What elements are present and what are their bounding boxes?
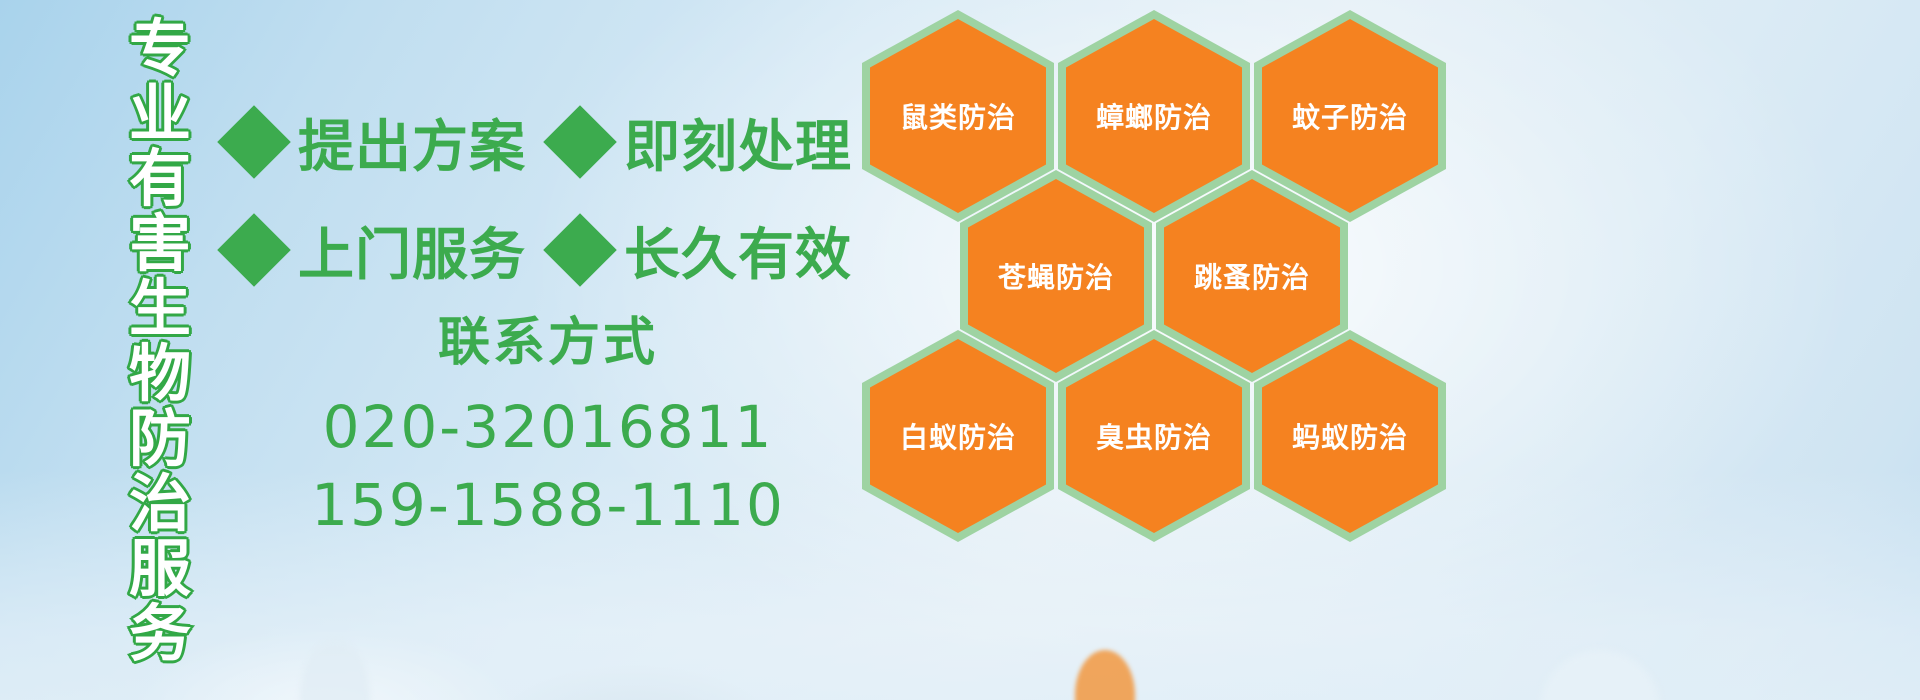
vertical-headline-char: 物 <box>129 341 191 406</box>
vertical-headline-char: 害 <box>129 211 191 276</box>
feature-item-longlasting: 长久有效 <box>554 210 852 291</box>
diamond-icon <box>217 213 291 287</box>
feature-row: 上门服务 长久有效 <box>228 196 868 304</box>
vertical-headline-char: 治 <box>129 471 191 536</box>
service-label: 臭虫防治 <box>1096 416 1212 456</box>
service-label: 白蚁防治 <box>900 416 1016 456</box>
background-blob-orange <box>1075 650 1135 700</box>
feature-item-proposal: 提出方案 <box>228 102 526 183</box>
diamond-icon <box>217 105 291 179</box>
pest-control-banner: 专 业 有 害 生 物 防 治 服 务 提出方案 即刻处理 上门服务 <box>0 0 1920 700</box>
contact-block: 联系方式 020-32016811 159-1588-1110 <box>248 312 848 544</box>
feature-label: 提出方案 <box>298 102 526 183</box>
service-label: 跳蚤防治 <box>1194 256 1310 296</box>
vertical-headline-char: 业 <box>129 81 191 146</box>
vertical-headline-char: 专 <box>129 16 191 81</box>
feature-item-onsite: 上门服务 <box>228 210 526 291</box>
contact-title: 联系方式 <box>248 312 848 374</box>
service-label: 蚊子防治 <box>1292 96 1408 136</box>
vertical-headline-char: 生 <box>129 276 191 341</box>
diamond-icon <box>543 105 617 179</box>
vertical-headline-char: 服 <box>129 536 191 601</box>
service-hexagon-grid: 鼠类防治 蟑螂防治 蚊子防治 苍蝇防治 跳蚤防治 白蚁防治 臭虫防治 蚂蚁 <box>862 4 1452 556</box>
vertical-headline-char: 务 <box>129 601 191 666</box>
service-label: 鼠类防治 <box>900 96 1016 136</box>
phone-number-mobile[interactable]: 159-1588-1110 <box>248 466 848 544</box>
diamond-icon <box>543 213 617 287</box>
service-label: 苍蝇防治 <box>998 256 1114 296</box>
service-label: 蟑螂防治 <box>1096 96 1212 136</box>
feature-row: 提出方案 即刻处理 <box>228 88 868 196</box>
feature-label: 上门服务 <box>298 210 526 291</box>
feature-label: 长久有效 <box>624 210 852 291</box>
vertical-headline: 专 业 有 害 生 物 防 治 服 务 <box>112 16 208 684</box>
phone-number-landline[interactable]: 020-32016811 <box>248 388 848 466</box>
feature-item-immediate: 即刻处理 <box>554 102 852 183</box>
vertical-headline-char: 有 <box>129 146 191 211</box>
feature-list: 提出方案 即刻处理 上门服务 长久有效 <box>228 88 868 304</box>
feature-label: 即刻处理 <box>624 102 852 183</box>
background-blob-right <box>1540 650 1660 700</box>
vertical-headline-char: 防 <box>129 406 191 471</box>
background-blob-left <box>300 640 370 700</box>
service-label: 蚂蚁防治 <box>1292 416 1408 456</box>
